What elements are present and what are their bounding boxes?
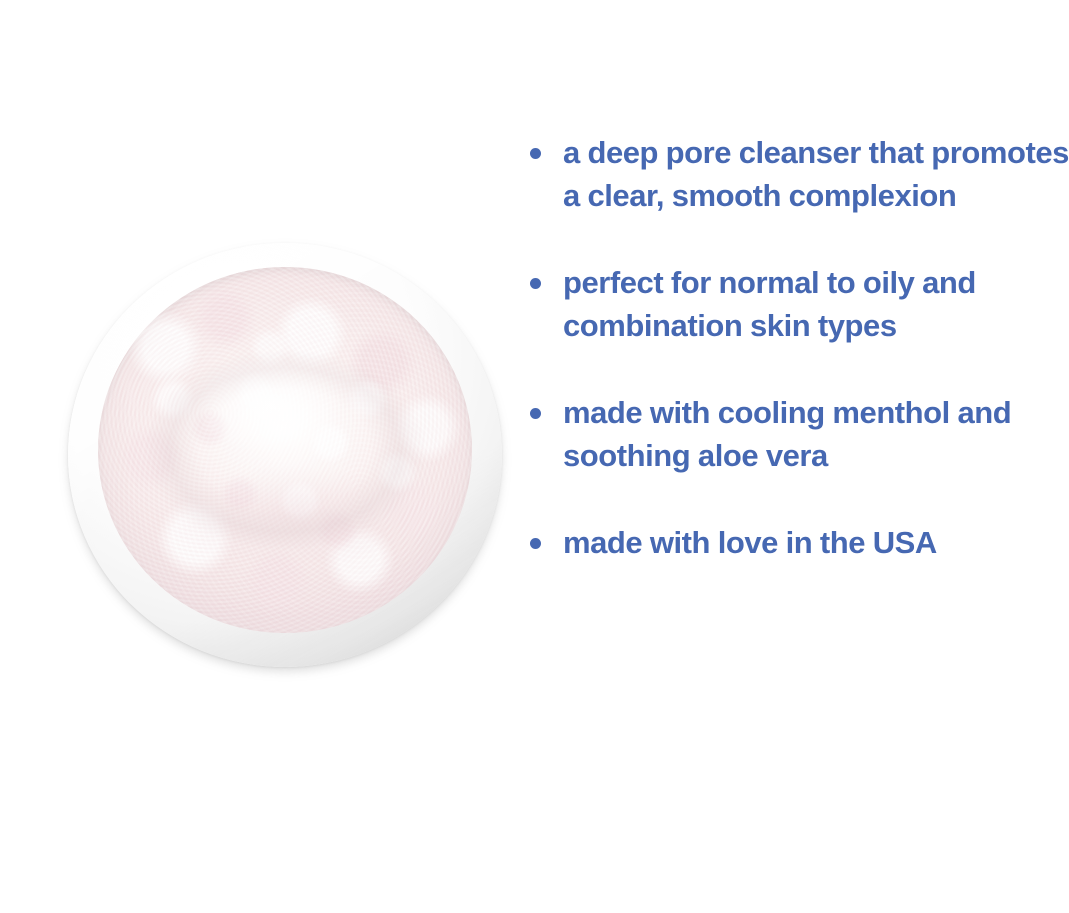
- feature-text: a deep pore cleanser that promotes a cle…: [563, 131, 1069, 217]
- powder-edge-shading: [98, 267, 472, 633]
- bullet-dot-icon: [530, 278, 541, 289]
- feature-text: made with cooling menthol and soothing a…: [563, 391, 1069, 477]
- cleansing-powder-surface: [98, 267, 472, 633]
- list-item: a deep pore cleanser that promotes a cle…: [530, 131, 1069, 217]
- bullet-dot-icon: [530, 538, 541, 549]
- product-image-bowl-of-powder: [62, 237, 508, 673]
- feature-text: made with love in the USA: [563, 521, 1069, 564]
- feature-bullet-list: a deep pore cleanser that promotes a cle…: [530, 131, 1069, 564]
- list-item: made with love in the USA: [530, 521, 1069, 564]
- bullet-dot-icon: [530, 408, 541, 419]
- list-item: made with cooling menthol and soothing a…: [530, 391, 1069, 477]
- bullet-dot-icon: [530, 148, 541, 159]
- feature-text: perfect for normal to oily and combinati…: [563, 261, 1069, 347]
- list-item: perfect for normal to oily and combinati…: [530, 261, 1069, 347]
- product-feature-graphic: a deep pore cleanser that promotes a cle…: [0, 0, 1069, 913]
